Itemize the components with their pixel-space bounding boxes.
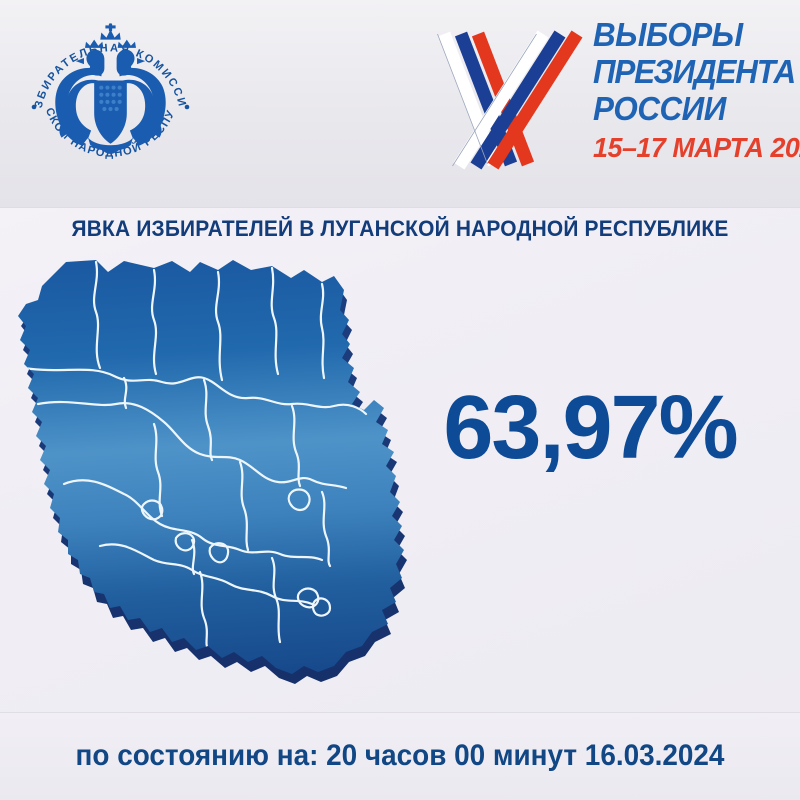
footer-band: по состоянию на: 20 часов 00 минут 16.03… bbox=[0, 712, 800, 800]
page-title: ЯВКА ИЗБИРАТЕЛЕЙ В ЛУГАНСКОЙ НАРОДНОЙ РЕ… bbox=[28, 216, 772, 242]
luhansk-region-map-icon bbox=[4, 248, 434, 700]
election-logo-text: ВЫБОРЫ ПРЕЗИДЕНТА РОССИИ 15–17 МАРТА 202… bbox=[593, 18, 793, 164]
logo-line-russia: РОССИИ bbox=[593, 92, 783, 125]
election-commission-emblem: ИЗБИРАТЕЛЬНАЯ КОМИССИЯ ЛУГАНСКОЙ НАРОДНО… bbox=[18, 12, 203, 197]
v-tricolor-mark-icon bbox=[430, 14, 590, 174]
turnout-percentage: 63,97% bbox=[400, 383, 780, 473]
poster-root: ИЗБИРАТЕЛЬНАЯ КОМИССИЯ ЛУГАНСКОЙ НАРОДНО… bbox=[0, 0, 800, 800]
logo-line-elections: ВЫБОРЫ bbox=[593, 18, 783, 51]
logo-date: 15–17 МАРТА 2024 bbox=[593, 132, 785, 164]
logo-line-president: ПРЕЗИДЕНТА bbox=[593, 55, 783, 88]
status-timestamp: по состоянию на: 20 часов 00 минут 16.03… bbox=[28, 739, 772, 773]
election-logo: ВЫБОРЫ ПРЕЗИДЕНТА РОССИИ 15–17 МАРТА 202… bbox=[430, 8, 795, 183]
